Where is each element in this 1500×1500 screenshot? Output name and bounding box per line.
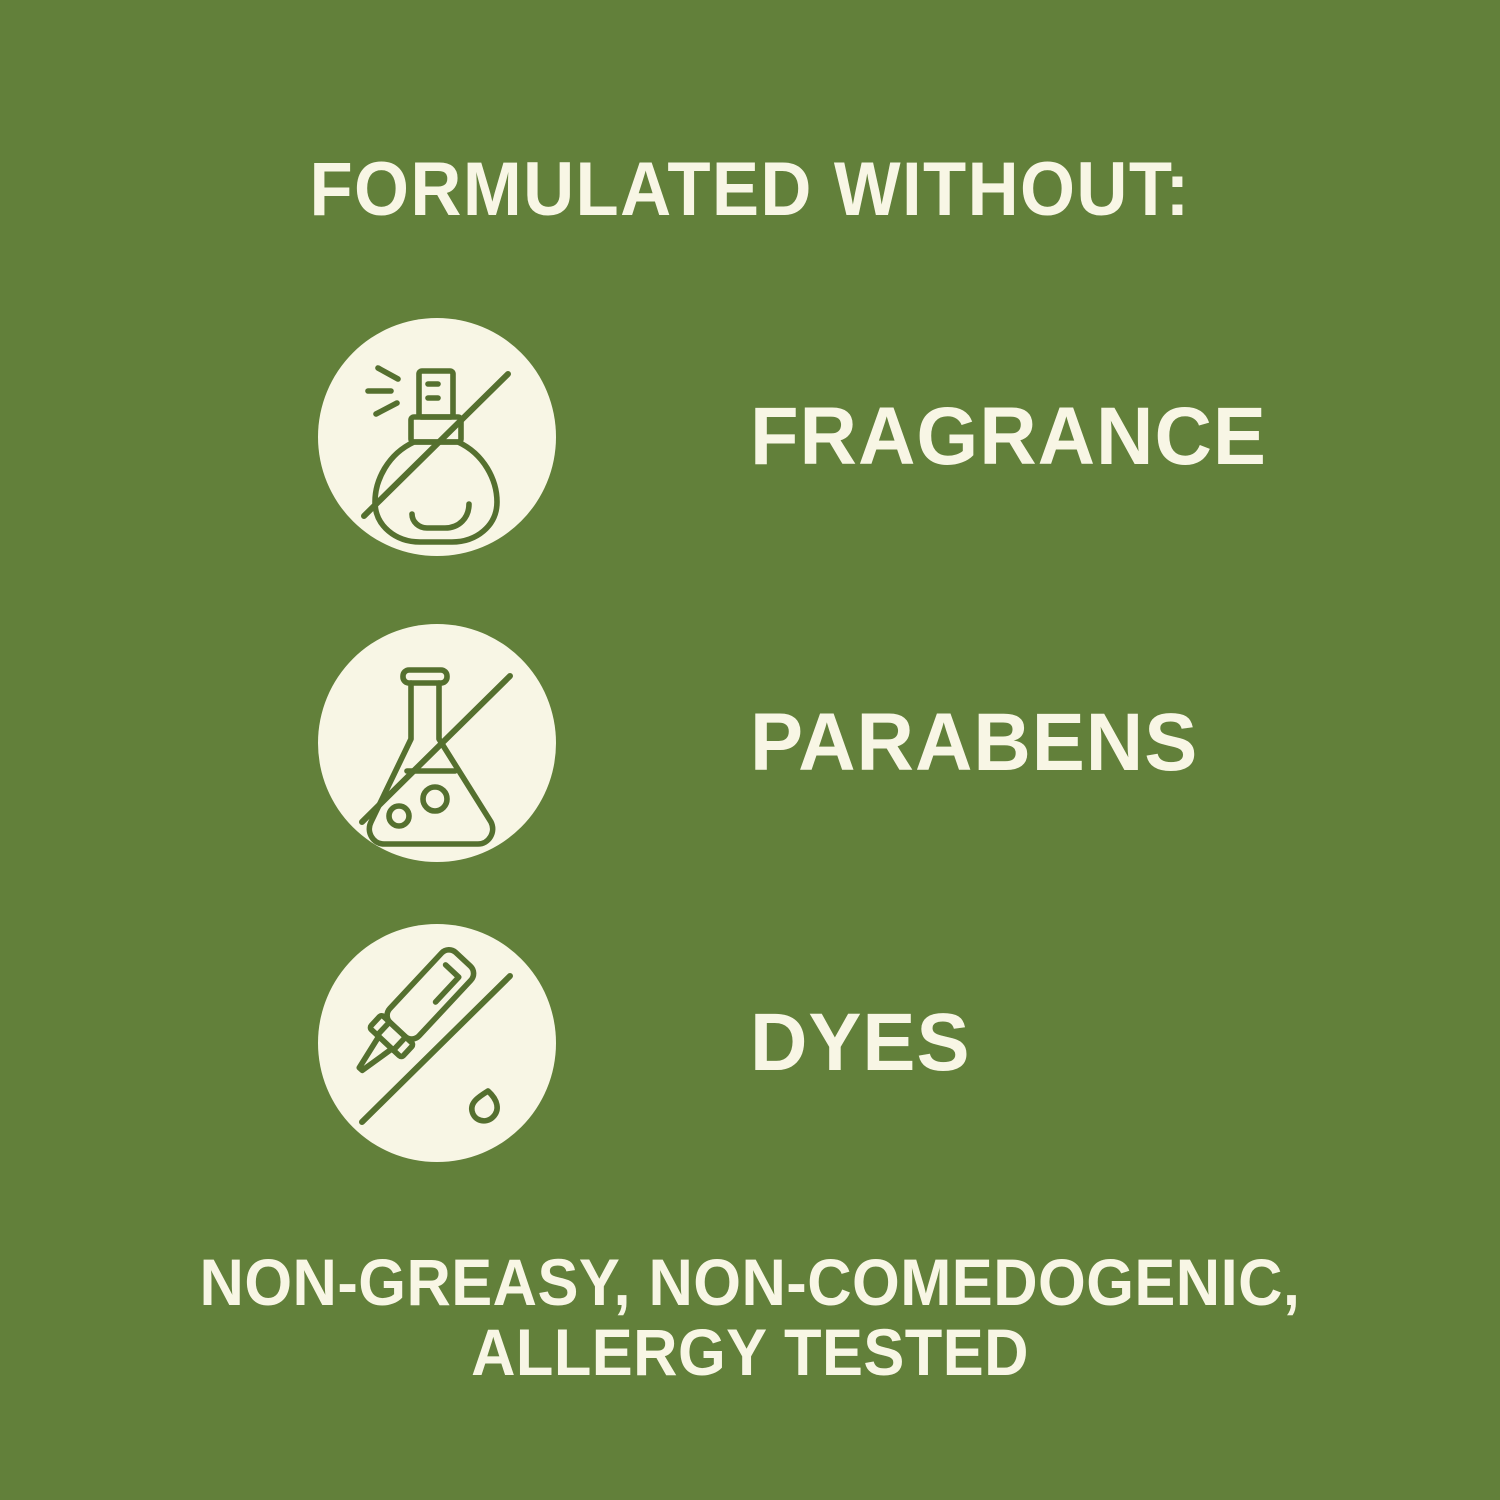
claim-row: PARABENS	[318, 624, 1318, 862]
footer-line-2: ALLERGY TESTED	[53, 1318, 1448, 1388]
page-title: FORMULATED WITHOUT:	[53, 152, 1448, 228]
claim-row: DYES	[318, 924, 1318, 1162]
no-perfume-bottle-icon	[318, 318, 556, 556]
formulated-without-infographic: FORMULATED WITHOUT:	[0, 0, 1500, 1500]
footer-line-1: NON-GREASY, NON-COMEDOGENIC,	[53, 1248, 1448, 1318]
no-dropper-icon	[318, 924, 556, 1162]
claim-label: DYES	[750, 1002, 1301, 1084]
no-flask-icon	[318, 624, 556, 862]
claim-row: FRAGRANCE	[318, 318, 1318, 556]
footer-claims: NON-GREASY, NON-COMEDOGENIC, ALLERGY TES…	[0, 1248, 1500, 1388]
claim-label: FRAGRANCE	[750, 396, 1301, 478]
claim-label: PARABENS	[750, 702, 1301, 784]
